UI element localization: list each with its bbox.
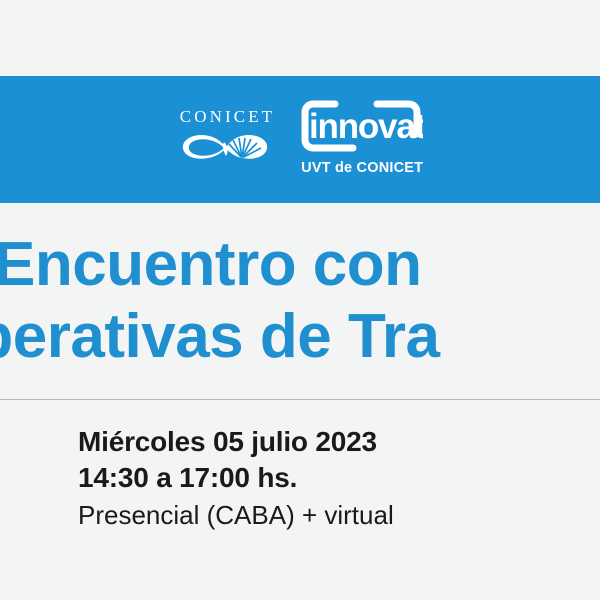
innovat-tagline: UVT de CONICET [301,161,423,176]
innovat-wordmark-text: innovat [309,107,423,146]
brand-header-band: CONICET [0,76,600,203]
innovat-logo-lockup: innovat UVT de CONICET [301,100,423,176]
innovat-bracket-logo: innovat [301,100,423,152]
top-spacer [0,0,600,76]
event-details-block: Miércoles 05 julio 2023 14:30 a 17:00 hs… [0,400,600,533]
event-date: Miércoles 05 julio 2023 [78,424,600,460]
flyer-page: CONICET [0,0,600,600]
event-modality: Presencial (CABA) + virtual [78,499,600,533]
headline-line-2: operativas de Tra [0,301,600,373]
conicet-logo-lockup: CONICET [177,108,275,163]
conicet-mobius-sun-logo [180,129,272,163]
headline-line-1: Encuentro con [0,229,600,301]
headline-block: Encuentro con operativas de Tra [0,203,600,373]
conicet-wordmark: CONICET [177,108,275,125]
event-time: 14:30 a 17:00 hs. [78,460,600,496]
